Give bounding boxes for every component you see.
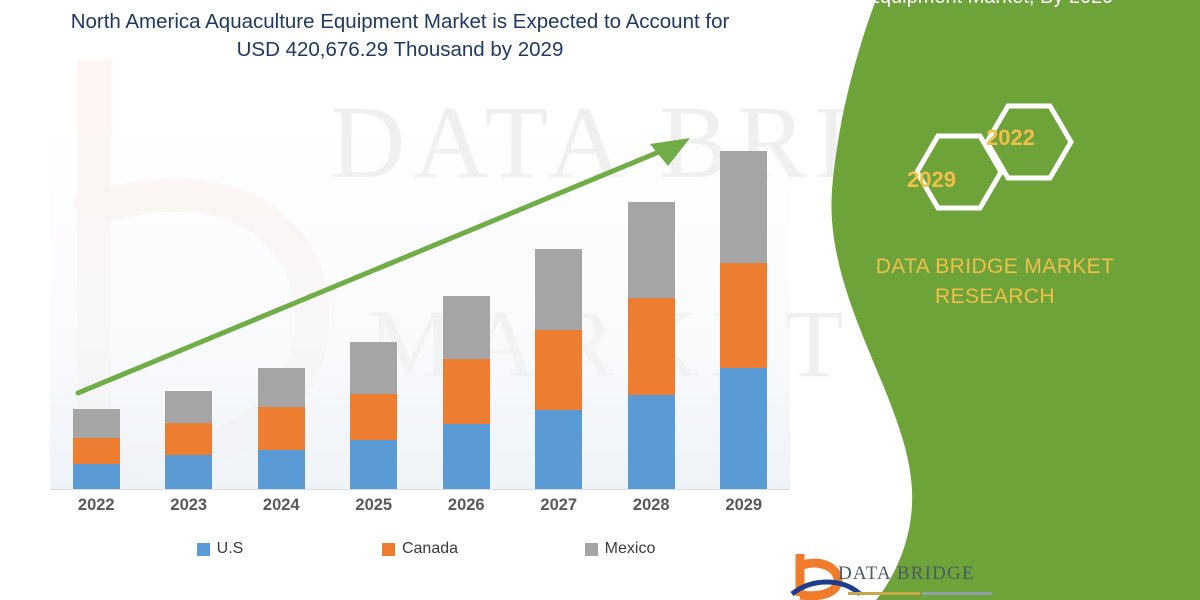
bar-series-container <box>50 129 790 489</box>
bar-segment-u-s[interactable] <box>720 368 767 489</box>
hexagon-2022-label: 2022 <box>986 125 1035 151</box>
x-axis-label-2022: 2022 <box>50 496 143 524</box>
hexagon-2029-label: 2029 <box>907 167 956 193</box>
bar-segment-u-s[interactable] <box>165 455 212 489</box>
bar-segment-mexico[interactable] <box>350 342 397 394</box>
bar-segment-mexico[interactable] <box>535 249 582 330</box>
legend-item-mexico[interactable]: Mexico <box>520 540 720 558</box>
bar-segment-mexico[interactable] <box>628 202 675 298</box>
bar-segment-canada[interactable] <box>443 359 490 424</box>
bar-segment-canada[interactable] <box>73 438 120 464</box>
branding-panel: Equipment Market, By 2029 2022 2029 DATA… <box>780 0 1200 600</box>
chart-title: North America Aquaculture Equipment Mark… <box>50 8 750 63</box>
legend-label: Mexico <box>605 540 656 558</box>
stacked-bar[interactable] <box>73 409 120 489</box>
bar-segment-canada[interactable] <box>258 407 305 450</box>
bar-segment-mexico[interactable] <box>73 409 120 438</box>
x-axis-label-2028: 2028 <box>605 496 698 524</box>
chart-panel: DATA BRIDGE MARKET RESEARCH North Americ… <box>0 0 860 600</box>
bar-slot <box>143 129 236 489</box>
bar-segment-mexico[interactable] <box>165 391 212 423</box>
hexagon-pair <box>890 92 1180 222</box>
stacked-bar[interactable] <box>258 368 305 489</box>
bar-slot <box>328 129 421 489</box>
x-axis-label-2026: 2026 <box>420 496 513 524</box>
brand-line-1: DATA BRIDGE MARKET <box>840 252 1150 282</box>
legend-item-canada[interactable]: Canada <box>320 540 520 558</box>
stacked-bar[interactable] <box>535 249 582 489</box>
bar-segment-u-s[interactable] <box>535 410 582 489</box>
square-swatch-icon <box>585 543 598 556</box>
square-swatch-icon <box>197 543 210 556</box>
branding-panel-brand: DATA BRIDGE MARKET RESEARCH <box>840 252 1150 313</box>
x-axis-label-2024: 2024 <box>235 496 328 524</box>
bar-segment-u-s[interactable] <box>443 424 490 489</box>
chart-legend: U.SCanadaMexico <box>120 536 720 562</box>
legend-label: U.S <box>217 540 244 558</box>
x-axis-label-2023: 2023 <box>143 496 236 524</box>
stacked-bar[interactable] <box>720 151 767 489</box>
legend-label: Canada <box>402 540 458 558</box>
bar-segment-mexico[interactable] <box>443 296 490 359</box>
bar-segment-canada[interactable] <box>628 298 675 395</box>
bar-slot <box>513 129 606 489</box>
bar-slot <box>698 129 791 489</box>
legend-item-u-s[interactable]: U.S <box>120 540 320 558</box>
bar-segment-mexico[interactable] <box>258 368 305 407</box>
x-axis-label-2025: 2025 <box>328 496 421 524</box>
bar-segment-canada[interactable] <box>535 330 582 410</box>
bar-segment-u-s[interactable] <box>258 450 305 489</box>
stacked-bar[interactable] <box>443 296 490 489</box>
bar-segment-canada[interactable] <box>350 394 397 440</box>
bar-segment-u-s[interactable] <box>628 395 675 489</box>
bar-segment-canada[interactable] <box>165 423 212 455</box>
bar-segment-mexico[interactable] <box>720 151 767 263</box>
square-swatch-icon <box>382 543 395 556</box>
bar-segment-u-s[interactable] <box>73 464 120 489</box>
branding-panel-content: Equipment Market, By 2029 2022 2029 DATA… <box>780 0 1200 600</box>
bar-slot <box>420 129 513 489</box>
bar-slot <box>50 129 143 489</box>
x-axis-line <box>50 489 790 490</box>
bar-slot <box>235 129 328 489</box>
company-logo-text: DATA BRIDGE <box>838 563 975 585</box>
bar-segment-canada[interactable] <box>720 263 767 368</box>
x-axis-label-2029: 2029 <box>698 496 791 524</box>
brand-line-2: RESEARCH <box>840 282 1150 312</box>
stacked-bar[interactable] <box>350 342 397 489</box>
stacked-bar[interactable] <box>165 391 212 489</box>
bar-segment-u-s[interactable] <box>350 440 397 489</box>
stacked-bar[interactable] <box>628 202 675 489</box>
plot-area <box>50 118 790 490</box>
bar-slot <box>605 129 698 489</box>
x-axis-label-2027: 2027 <box>513 496 606 524</box>
infographic-root: DATA BRIDGE MARKET RESEARCH North Americ… <box>0 0 1200 600</box>
branding-panel-title: Equipment Market, By 2029 <box>800 0 1180 11</box>
x-axis-labels: 20222023202420252026202720282029 <box>50 496 790 524</box>
